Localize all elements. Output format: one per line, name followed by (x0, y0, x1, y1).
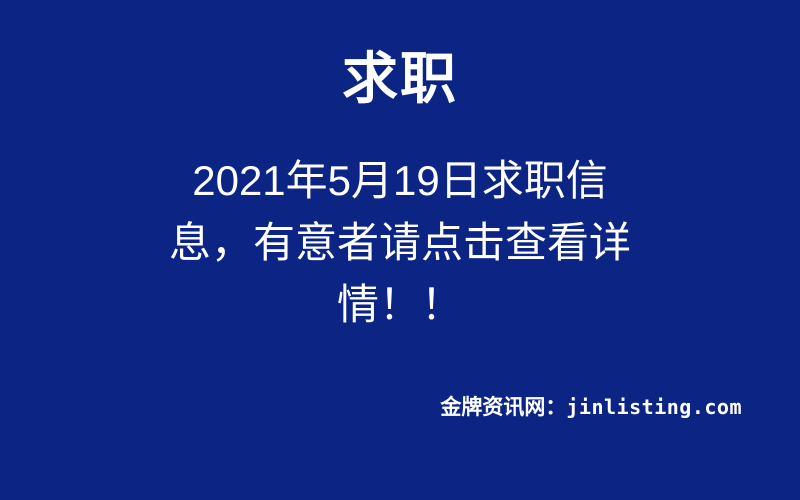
footer-domain: jinlisting.com (566, 395, 742, 419)
poster-canvas: 求职 2021年5月19日求职信息，有意者请点击查看详情！！ 金牌资讯网：jin… (0, 0, 800, 500)
footer-site-label: 金牌资讯网： (440, 396, 566, 419)
page-title: 求职 (0, 48, 800, 110)
footer-watermark: 金牌资讯网：jinlisting.com (0, 394, 800, 421)
poster-body-text: 2021年5月19日求职信息，有意者请点击查看详情！！ (165, 150, 635, 336)
